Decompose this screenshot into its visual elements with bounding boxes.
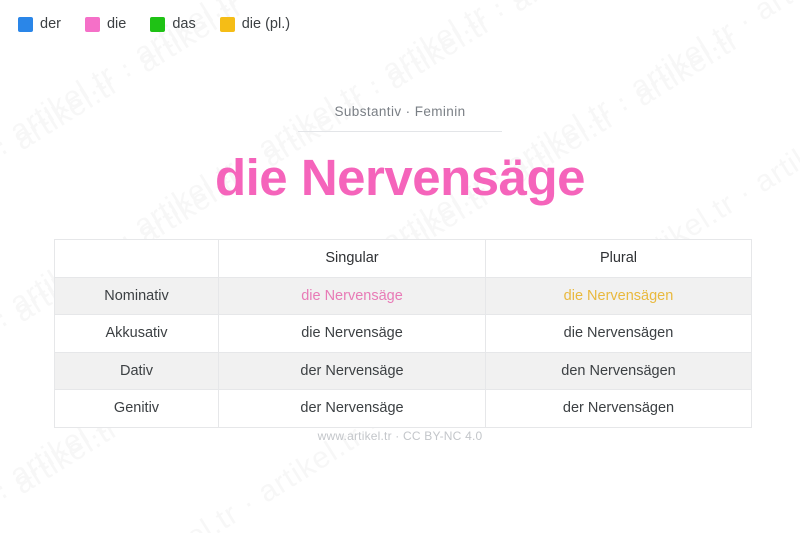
column-header-singular: Singular	[219, 240, 486, 278]
column-header-case	[55, 240, 219, 278]
legend-item-das: das	[150, 17, 195, 32]
article-color-legend: derdiedasdie (pl.)	[18, 17, 290, 32]
table-header-row: Singular Plural	[55, 240, 752, 278]
legend-item-label: die (pl.)	[242, 17, 290, 32]
header-divider	[298, 131, 502, 132]
word-header: Substantiv · Feminin die Nervensäge	[0, 104, 800, 205]
plural-form-cell: der Nervensägen	[486, 390, 752, 428]
footer-credit: www.artikel.tr · CC BY-NC 4.0	[0, 429, 800, 443]
table-row: Genitivder Nervensägeder Nervensägen	[55, 390, 752, 428]
color-swatch-icon	[18, 17, 33, 32]
legend-item-label: das	[172, 17, 195, 32]
column-header-plural: Plural	[486, 240, 752, 278]
table-header: Singular Plural	[55, 240, 752, 278]
case-label-akkusativ: Akkusativ	[55, 315, 219, 353]
table-row: Dativder Nervensägeden Nervensägen	[55, 352, 752, 390]
case-label-genitiv: Genitiv	[55, 390, 219, 428]
plural-form-cell: den Nervensägen	[486, 352, 752, 390]
legend-item-der: der	[18, 17, 61, 32]
table-row: Akkusativdie Nervensägedie Nervensägen	[55, 315, 752, 353]
color-swatch-icon	[85, 17, 100, 32]
legend-item-die: die	[85, 17, 126, 32]
singular-form-cell: der Nervensäge	[219, 390, 486, 428]
plural-form-cell: die Nervensägen	[486, 277, 752, 315]
table-row: Nominativdie Nervensägedie Nervensägen	[55, 277, 752, 315]
case-label-dativ: Dativ	[55, 352, 219, 390]
color-swatch-icon	[150, 17, 165, 32]
table-body: Nominativdie Nervensägedie NervensägenAk…	[55, 277, 752, 427]
page-title: die Nervensäge	[0, 151, 800, 205]
word-category-subtitle: Substantiv · Feminin	[0, 104, 800, 131]
singular-form-cell: die Nervensäge	[219, 277, 486, 315]
color-swatch-icon	[220, 17, 235, 32]
plural-form-cell: die Nervensägen	[486, 315, 752, 353]
conjugation-card: derdiedasdie (pl.) Substantiv · Feminin …	[0, 0, 800, 533]
singular-form-cell: der Nervensäge	[219, 352, 486, 390]
legend-item-label: der	[40, 17, 61, 32]
singular-form-cell: die Nervensäge	[219, 315, 486, 353]
legend-item-label: die	[107, 17, 126, 32]
declension-table: Singular Plural Nominativdie Nervensäged…	[54, 239, 752, 428]
case-label-nominativ: Nominativ	[55, 277, 219, 315]
legend-item-diepl-plural: die (pl.)	[220, 17, 290, 32]
